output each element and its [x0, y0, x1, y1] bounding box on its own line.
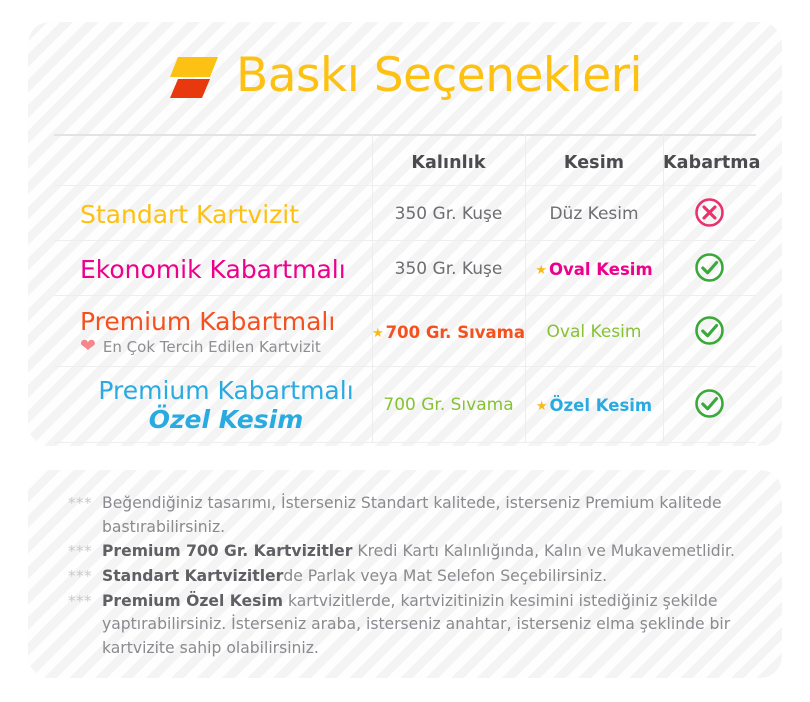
cut-value: Düz Kesim: [549, 204, 638, 224]
divider-under-title: [54, 134, 756, 136]
header-cell-thickness: Kalınlık: [372, 153, 525, 173]
heart-icon: ❤: [80, 337, 96, 356]
table-header-row: Kalınlık Kesim Kabartma: [54, 142, 756, 184]
list-item: *** Beğendiğiniz tasarımı, İsterseniz St…: [68, 492, 758, 539]
row-name-cell: Premium Kabartmalı ❤ En Çok Tercih Edile…: [54, 308, 372, 356]
row-name-cell: Ekonomik Kabartmalı: [54, 256, 372, 283]
row-embossing-cell: [663, 197, 756, 232]
row-cut-cell: ★Özel Kesim: [525, 396, 663, 415]
page-root: Baskı Seçenekleri Kalınlık Kesim Kabartm…: [0, 0, 810, 702]
row-thickness-cell: 700 Gr. Sıvama: [372, 395, 525, 415]
star-icon: ★: [372, 326, 384, 341]
row-name-cell: Premium Kabartmalı Özel Kesim: [54, 377, 372, 434]
table-row[interactable]: Premium Kabartmalı ❤ En Çok Tercih Edile…: [54, 300, 756, 364]
divider-row-3: [54, 366, 756, 367]
table-row[interactable]: Ekonomik Kabartmalı 350 Gr. Kuşe ★Oval K…: [54, 245, 756, 293]
cut-value: Özel Kesim: [550, 396, 653, 415]
row-cut-cell: Oval Kesim: [525, 322, 663, 342]
row-embossing-cell: [663, 252, 756, 287]
product-name: Premium Kabartmalı: [80, 377, 372, 404]
list-item: *** Premium Özel Kesim kartvizitlerde, k…: [68, 590, 758, 661]
thickness-value: 700 Gr. Sıvama: [383, 395, 513, 415]
list-item: *** Premium 700 Gr. Kartvizitler Kredi K…: [68, 540, 758, 564]
asterisk-marker: ***: [68, 540, 92, 563]
note-text: de Parlak veya Mat Selefon Seçebilirsini…: [283, 567, 607, 585]
product-name: Premium Kabartmalı: [80, 308, 372, 335]
list-item: *** Standart Kartvizitlerde Parlak veya …: [68, 565, 758, 589]
note-text: Beğendiğiniz tasarımı, İsterseniz Standa…: [102, 494, 722, 536]
row-thickness-cell: ★700 Gr. Sıvama: [372, 323, 525, 342]
divider-row-1: [54, 240, 756, 241]
cross-circle-icon: [694, 197, 725, 232]
divider-row-4: [54, 442, 756, 443]
page-title-text: Baskı Seçenekleri: [236, 52, 642, 99]
cut-value: Oval Kesim: [549, 260, 653, 279]
divider-under-header: [54, 185, 756, 186]
parallelogram-logo-icon: [168, 53, 220, 101]
asterisk-marker: ***: [68, 492, 92, 515]
header-cell-cut: Kesim: [525, 153, 663, 173]
product-name: Standart Kartvizit: [80, 201, 372, 228]
product-name: Ekonomik Kabartmalı: [80, 256, 372, 283]
notes-list: *** Beğendiğiniz tasarımı, İsterseniz St…: [68, 492, 758, 662]
cut-value: Oval Kesim: [547, 322, 642, 342]
product-subtitle-text: En Çok Tercih Edilen Kartvizit: [103, 338, 321, 356]
row-thickness-cell: 350 Gr. Kuşe: [372, 259, 525, 279]
row-embossing-cell: [663, 388, 756, 423]
asterisk-marker: ***: [68, 565, 92, 588]
note-bold: Premium 700 Gr. Kartvizitler: [102, 542, 352, 560]
check-circle-icon: [694, 315, 725, 350]
row-cut-cell: ★Oval Kesim: [525, 260, 663, 279]
product-special: Özel Kesim: [80, 405, 372, 434]
table-row[interactable]: Premium Kabartmalı Özel Kesim 700 Gr. Sı…: [54, 370, 756, 440]
thickness-value: 350 Gr. Kuşe: [395, 204, 503, 224]
thickness-value: 700 Gr. Sıvama: [386, 323, 525, 342]
row-name-cell: Standart Kartvizit: [54, 201, 372, 228]
page-title: Baskı Seçenekleri: [28, 40, 782, 110]
divider-row-2: [54, 295, 756, 296]
note-bold: Premium Özel Kesim: [102, 592, 283, 610]
note-bold: Standart Kartvizitler: [102, 567, 283, 585]
star-icon: ★: [535, 263, 547, 278]
notes-card: *** Beğendiğiniz tasarımı, İsterseniz St…: [28, 470, 782, 678]
table-row[interactable]: Standart Kartvizit 350 Gr. Kuşe Düz Kesi…: [54, 190, 756, 238]
star-icon: ★: [536, 399, 548, 414]
product-subtitle: ❤ En Çok Tercih Edilen Kartvizit: [80, 337, 372, 356]
check-circle-icon: [694, 252, 725, 287]
asterisk-marker: ***: [68, 590, 92, 613]
row-embossing-cell: [663, 315, 756, 350]
row-thickness-cell: 350 Gr. Kuşe: [372, 204, 525, 224]
options-card: Baskı Seçenekleri Kalınlık Kesim Kabartm…: [28, 22, 782, 446]
header-cell-embossing: Kabartma: [663, 153, 756, 173]
note-text: Kredi Kartı Kalınlığında, Kalın ve Mukav…: [352, 542, 735, 560]
row-cut-cell: Düz Kesim: [525, 204, 663, 224]
check-circle-icon: [694, 388, 725, 423]
thickness-value: 350 Gr. Kuşe: [395, 259, 503, 279]
